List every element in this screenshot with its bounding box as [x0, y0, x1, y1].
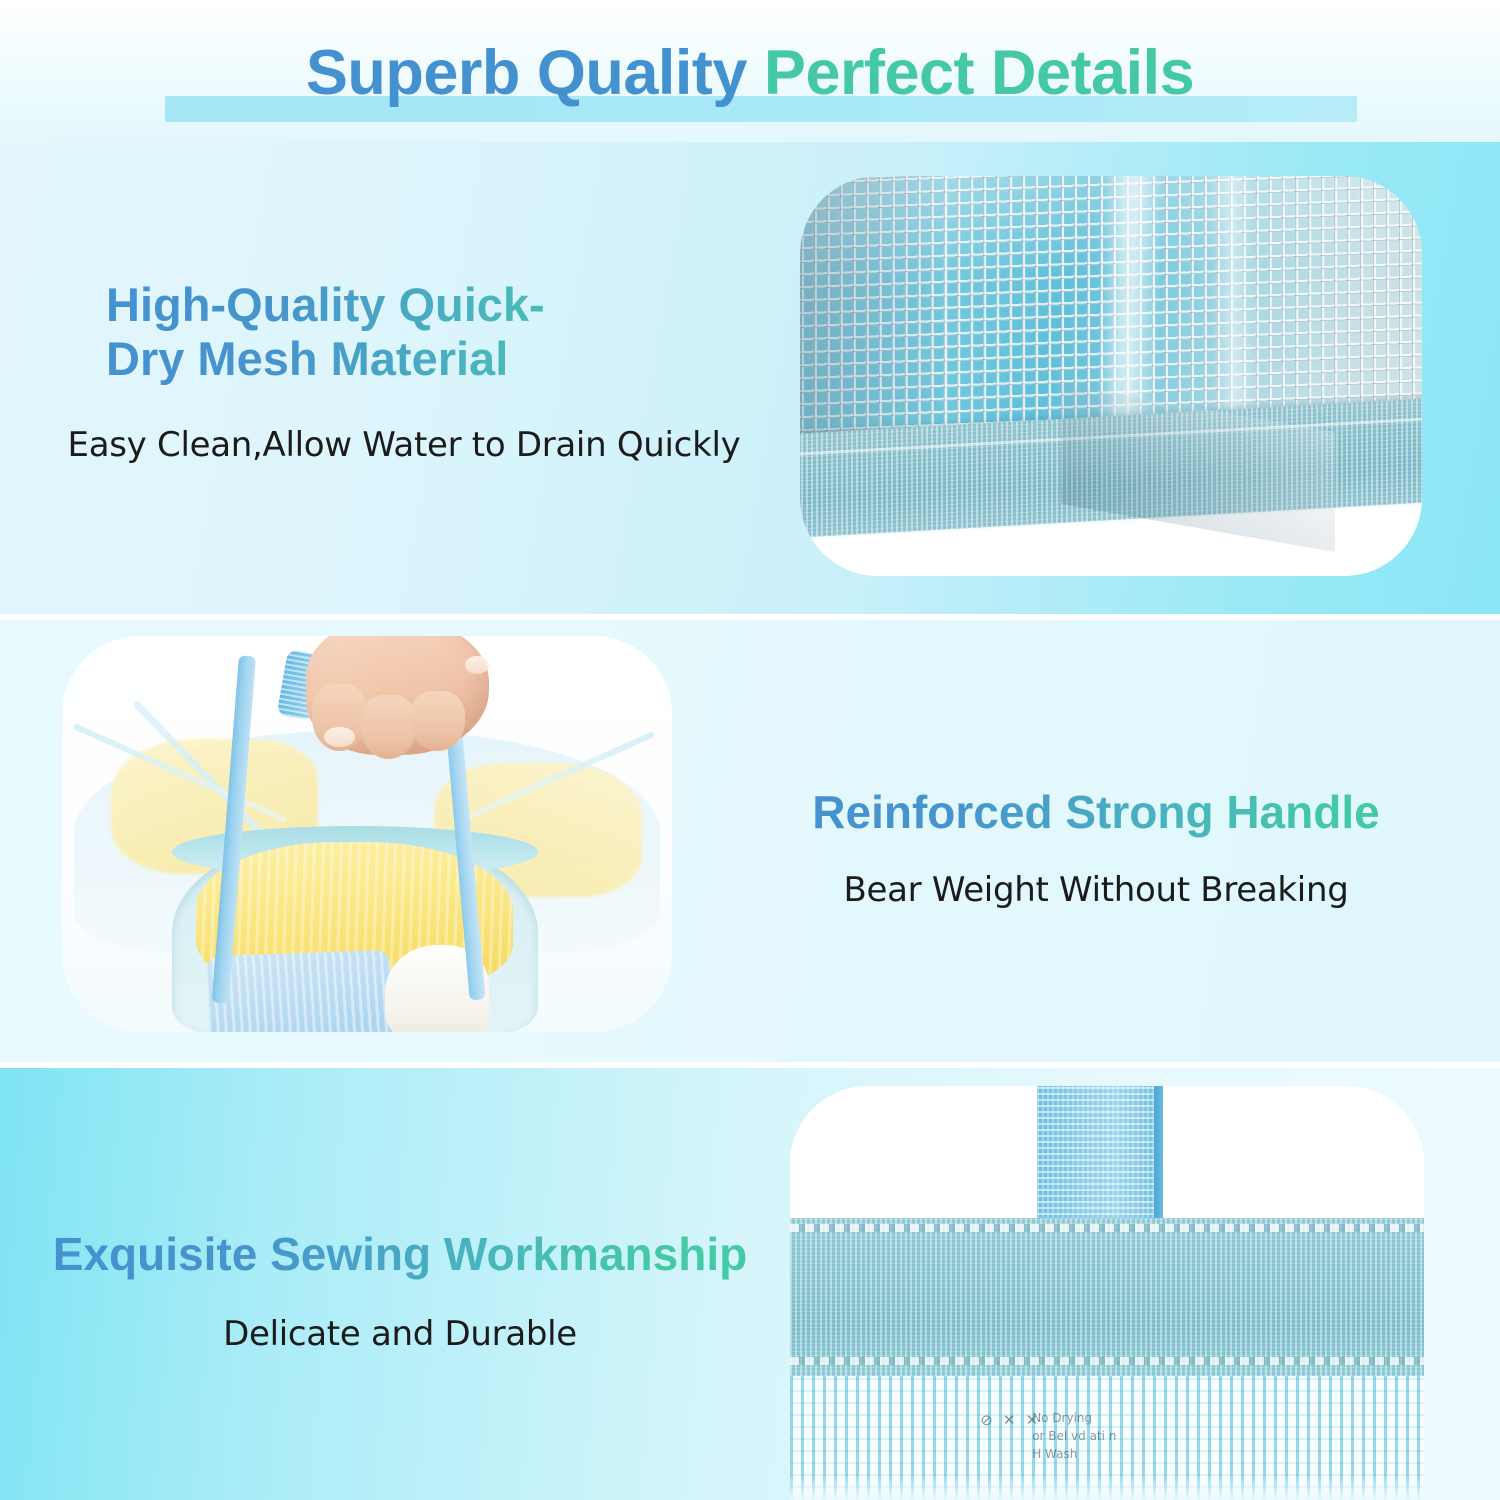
infographic-page: Superb Quality Perfect Details High-Qual…: [0, 0, 1500, 1500]
stitch-line-top: [790, 1224, 1424, 1232]
finger-2: [361, 695, 416, 758]
title-green-part: Perfect Details: [747, 38, 1194, 108]
feature-3-text-block: Exquisite Sewing Workmanship Delicate an…: [10, 1228, 790, 1354]
feature-1-heading: High-Quality Quick- Dry Mesh Material: [48, 278, 760, 385]
fingernail-1: [324, 727, 355, 747]
care-label-line-1: No Drying: [1032, 1409, 1116, 1427]
care-label-text: No Drying or Bel vd ati n H Wash: [1032, 1409, 1116, 1463]
hand-holding-basket-image: [62, 636, 672, 1032]
stitch-line-bottom: [790, 1357, 1424, 1365]
feature-3-photo: ⊘ ✕ ✕ No Drying or Bel vd ati n H Wash: [790, 1086, 1424, 1500]
fingernail-2: [465, 656, 489, 674]
mesh-closeup-image: [800, 176, 1422, 576]
feature-2-text-block: Reinforced Strong Handle Bear Weight Wit…: [706, 786, 1486, 910]
feature-3-subheading: Delicate and Durable: [10, 1314, 790, 1354]
page-title: Superb Quality Perfect Details: [0, 40, 1500, 106]
photo-bottom-fade: [790, 1474, 1424, 1500]
feature-1-photo: [800, 176, 1422, 576]
handle-stitching-image: ⊘ ✕ ✕ No Drying or Bel vd ati n H Wash: [790, 1086, 1424, 1500]
feature-2-heading: Reinforced Strong Handle: [706, 786, 1486, 838]
care-label-line-3: H Wash: [1032, 1445, 1116, 1463]
finger-3: [410, 691, 465, 750]
feature-1-text-block: High-Quality Quick- Dry Mesh Material Ea…: [48, 278, 760, 465]
feature-2-subheading: Bear Weight Without Breaking: [706, 870, 1486, 910]
feature-1-subheading: Easy Clean,Allow Water to Drain Quickly: [48, 425, 760, 465]
care-label: ⊘ ✕ ✕ No Drying or Bel vd ati n H Wash: [980, 1409, 1272, 1484]
handle-strap-edge: [1154, 1086, 1163, 1227]
care-label-line-2: or Bel vd ati n: [1032, 1427, 1116, 1445]
handle-strap-webbing: [1037, 1086, 1157, 1227]
feature-3-heading: Exquisite Sewing Workmanship: [10, 1228, 790, 1280]
feature-2-photo: [62, 636, 672, 1032]
title-blue-part: Superb Quality: [306, 38, 747, 108]
binding-tape-band: [790, 1218, 1424, 1375]
title-band: Superb Quality Perfect Details: [0, 0, 1500, 142]
blue-cloth-item: [207, 950, 393, 1032]
